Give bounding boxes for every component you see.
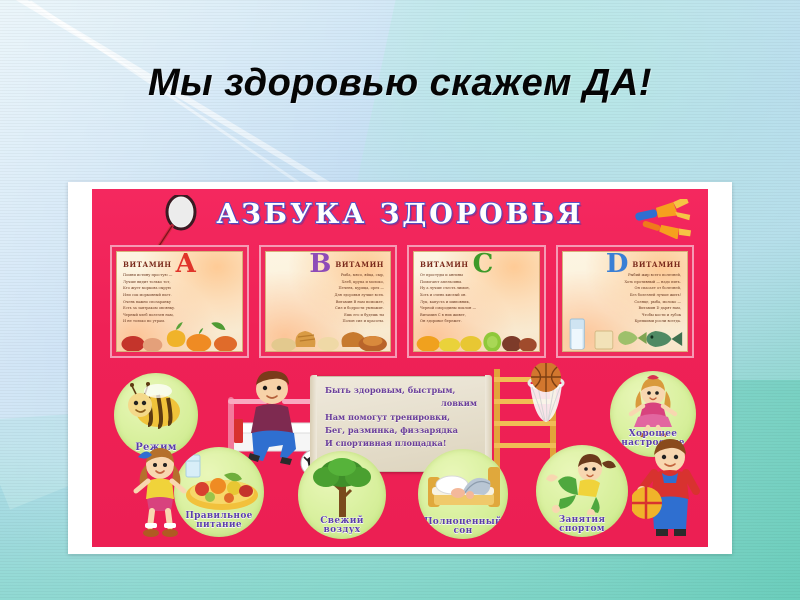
poem-line: Хоть противный — надо пить. bbox=[569, 279, 682, 286]
poster-header: АЗБУКА ЗДОРОВЬЯ bbox=[92, 193, 708, 239]
poem-line: Витамин C в них живет, bbox=[420, 312, 533, 319]
badge-label-line: воздух bbox=[298, 526, 386, 535]
bed-icon bbox=[418, 453, 508, 519]
poem-line: Кто жует морковь сырую bbox=[123, 285, 236, 292]
poster-canvas: АЗБУКА ЗДОРОВЬЯ bbox=[92, 189, 708, 547]
poem-line: Без болезней лучше жить! bbox=[569, 292, 682, 299]
shuttlecock-icon bbox=[630, 199, 692, 239]
poem-line: Хоть и очень кислый он. bbox=[420, 292, 533, 299]
poem-line: Сил и бодрости умножит. bbox=[272, 305, 385, 312]
poem-line: Помогают апельсины. bbox=[420, 279, 533, 286]
badge-label-pravilnoe-pitanie: Правильное питание bbox=[174, 512, 264, 530]
badge-label-line: настроение bbox=[610, 439, 696, 448]
badge-rezhim[interactable]: Режим bbox=[114, 373, 198, 457]
vitamin-word-b: ВИТАМИН bbox=[335, 260, 384, 269]
poem-line: Солнце, рыба, молоко — bbox=[569, 299, 682, 306]
poem-line: Или сок морковный пьет. bbox=[123, 292, 236, 299]
badge-label-line: спортом bbox=[536, 525, 628, 534]
scroll-line: Быть здоровым, быстрым, bbox=[325, 384, 477, 397]
vitamin-poem-b: Рыба, мясо, яйца, сыр, Хлеб, крупа и мол… bbox=[272, 272, 385, 325]
dancing-girl-icon bbox=[610, 375, 696, 437]
vitamin-card-c-inner: ВИТАМИН C От простуды и ангины Помогают … bbox=[413, 251, 540, 352]
poem-line: Печень, курица, орех — bbox=[272, 285, 385, 292]
poem-line: Лук, капуста и шиповник, bbox=[420, 299, 533, 306]
tree-icon bbox=[298, 455, 386, 519]
poem-line: Ну а лучше съесть лимон, bbox=[420, 285, 533, 292]
poem-line: Есть за завтраком овсянку. bbox=[123, 305, 236, 312]
badge-label-horoshee-nastroenie: Хорошее настроение bbox=[610, 430, 696, 448]
badge-zanyatiya-sportom[interactable]: Занятия спортом bbox=[536, 445, 628, 537]
poem-line: Рыба, мясо, яйца, сыр, bbox=[272, 272, 385, 279]
vitamin-card-b: ВИТАМИН B Рыба, мясо, яйца, сыр, Хлеб, к… bbox=[259, 245, 398, 358]
slide-title: Мы здоровью скажем ДА! bbox=[0, 62, 800, 105]
food-plate-icon bbox=[174, 451, 264, 517]
poem-line: Витамин D дарят нам, bbox=[569, 305, 682, 312]
poem-line: И не только по утрам. bbox=[123, 318, 236, 325]
scroll-line: И спортивная площадка! bbox=[325, 437, 477, 450]
poem-line: От простуды и ангины bbox=[420, 272, 533, 279]
poem-line: Витамин B нам поможет, bbox=[272, 299, 385, 306]
scroll-line: ловким bbox=[325, 397, 477, 410]
scroll-line: Бег, разминка, физзарядка bbox=[325, 424, 477, 437]
vitamin-word-d: ВИТАМИН bbox=[632, 260, 681, 269]
vitamin-card-b-inner: ВИТАМИН B Рыба, мясо, яйца, сыр, Хлеб, к… bbox=[265, 251, 392, 352]
vitamin-card-d-inner: ВИТАМИН D Рыбий жир всего полезней, Хоть… bbox=[562, 251, 689, 352]
poem-line: Помни истину простую — bbox=[123, 272, 236, 279]
badge-pravilnoe-pitanie[interactable]: Правильное питание bbox=[174, 447, 264, 537]
health-poster-image: АЗБУКА ЗДОРОВЬЯ bbox=[68, 182, 732, 554]
presentation-slide: Мы здоровью скажем ДА! АЗБУКА ЗДОРОВЬЯ bbox=[0, 0, 800, 600]
poem-line: Он здоровье бережет. bbox=[420, 318, 533, 325]
poem-line: Ешь его и будешь ты bbox=[272, 312, 385, 319]
vitamin-card-a-inner: ВИТАМИН A Помни истину простую — Лучше в… bbox=[116, 251, 243, 352]
poem-line: Он спасает от болезней, bbox=[569, 285, 682, 292]
badge-label-polnocenniy-son: Полноценный сон bbox=[418, 518, 508, 536]
poem-line: Очень важно спозаранку bbox=[123, 299, 236, 306]
poem-line: Рыбий жир всего полезней, bbox=[569, 272, 682, 279]
poster-title: АЗБУКА ЗДОРОВЬЯ bbox=[92, 199, 708, 230]
vitamin-card-a: ВИТАМИН A Помни истину простую — Лучше в… bbox=[110, 245, 249, 358]
vitamin-poem-c: От простуды и ангины Помогают апельсины.… bbox=[420, 272, 533, 325]
poem-line: Черной смородины поклон — bbox=[420, 305, 533, 312]
scroll-line: Нам помогут тренировки, bbox=[325, 411, 477, 424]
poem-line: Хлеб, крупа и молоко, bbox=[272, 279, 385, 286]
poem-line: Полон сил и красоты. bbox=[272, 318, 385, 325]
badge-label-svezhiy-vozduh: Свежий воздух bbox=[298, 517, 386, 535]
badge-polnocenniy-son[interactable]: Полноценный сон bbox=[418, 449, 508, 539]
vitamin-card-d: ВИТАМИН D Рыбий жир всего полезней, Хоть… bbox=[556, 245, 695, 358]
poster-lower-section: Быть здоровым, быстрым, ловким Нам помог… bbox=[92, 359, 708, 547]
badge-horoshee-nastroenie[interactable]: Хорошее настроение bbox=[610, 371, 696, 457]
poem-line: Для здоровья лучше всех. bbox=[272, 292, 385, 299]
poem-line: Лучше видит только тот, bbox=[123, 279, 236, 286]
vitamin-poem-d: Рыбий жир всего полезней, Хоть противный… bbox=[569, 272, 682, 325]
vitamin-card-c: ВИТАМИН C От простуды и ангины Помогают … bbox=[407, 245, 546, 358]
vitamin-word-c: ВИТАМИН bbox=[420, 260, 469, 269]
poem-line: Черный хлеб полезен нам, bbox=[123, 312, 236, 319]
gymnast-icon bbox=[536, 449, 628, 517]
badge-svezhiy-vozduh[interactable]: Свежий воздух bbox=[298, 451, 386, 539]
poem-line: Чтобы кости и зубок bbox=[569, 312, 682, 319]
badge-label-line: сон bbox=[418, 527, 508, 536]
badge-label-zanyatiya-sportom: Занятия спортом bbox=[536, 516, 628, 534]
poem-line: Крепкими росли всегда. bbox=[569, 318, 682, 325]
badge-label-line: питание bbox=[174, 521, 264, 530]
vitamin-word-a: ВИТАМИН bbox=[123, 260, 172, 269]
vitamin-cards-row: ВИТАМИН A Помни истину простую — Лучше в… bbox=[110, 245, 694, 358]
bee-icon bbox=[114, 377, 198, 437]
vitamin-poem-a: Помни истину простую — Лучше видит тольк… bbox=[123, 272, 236, 325]
